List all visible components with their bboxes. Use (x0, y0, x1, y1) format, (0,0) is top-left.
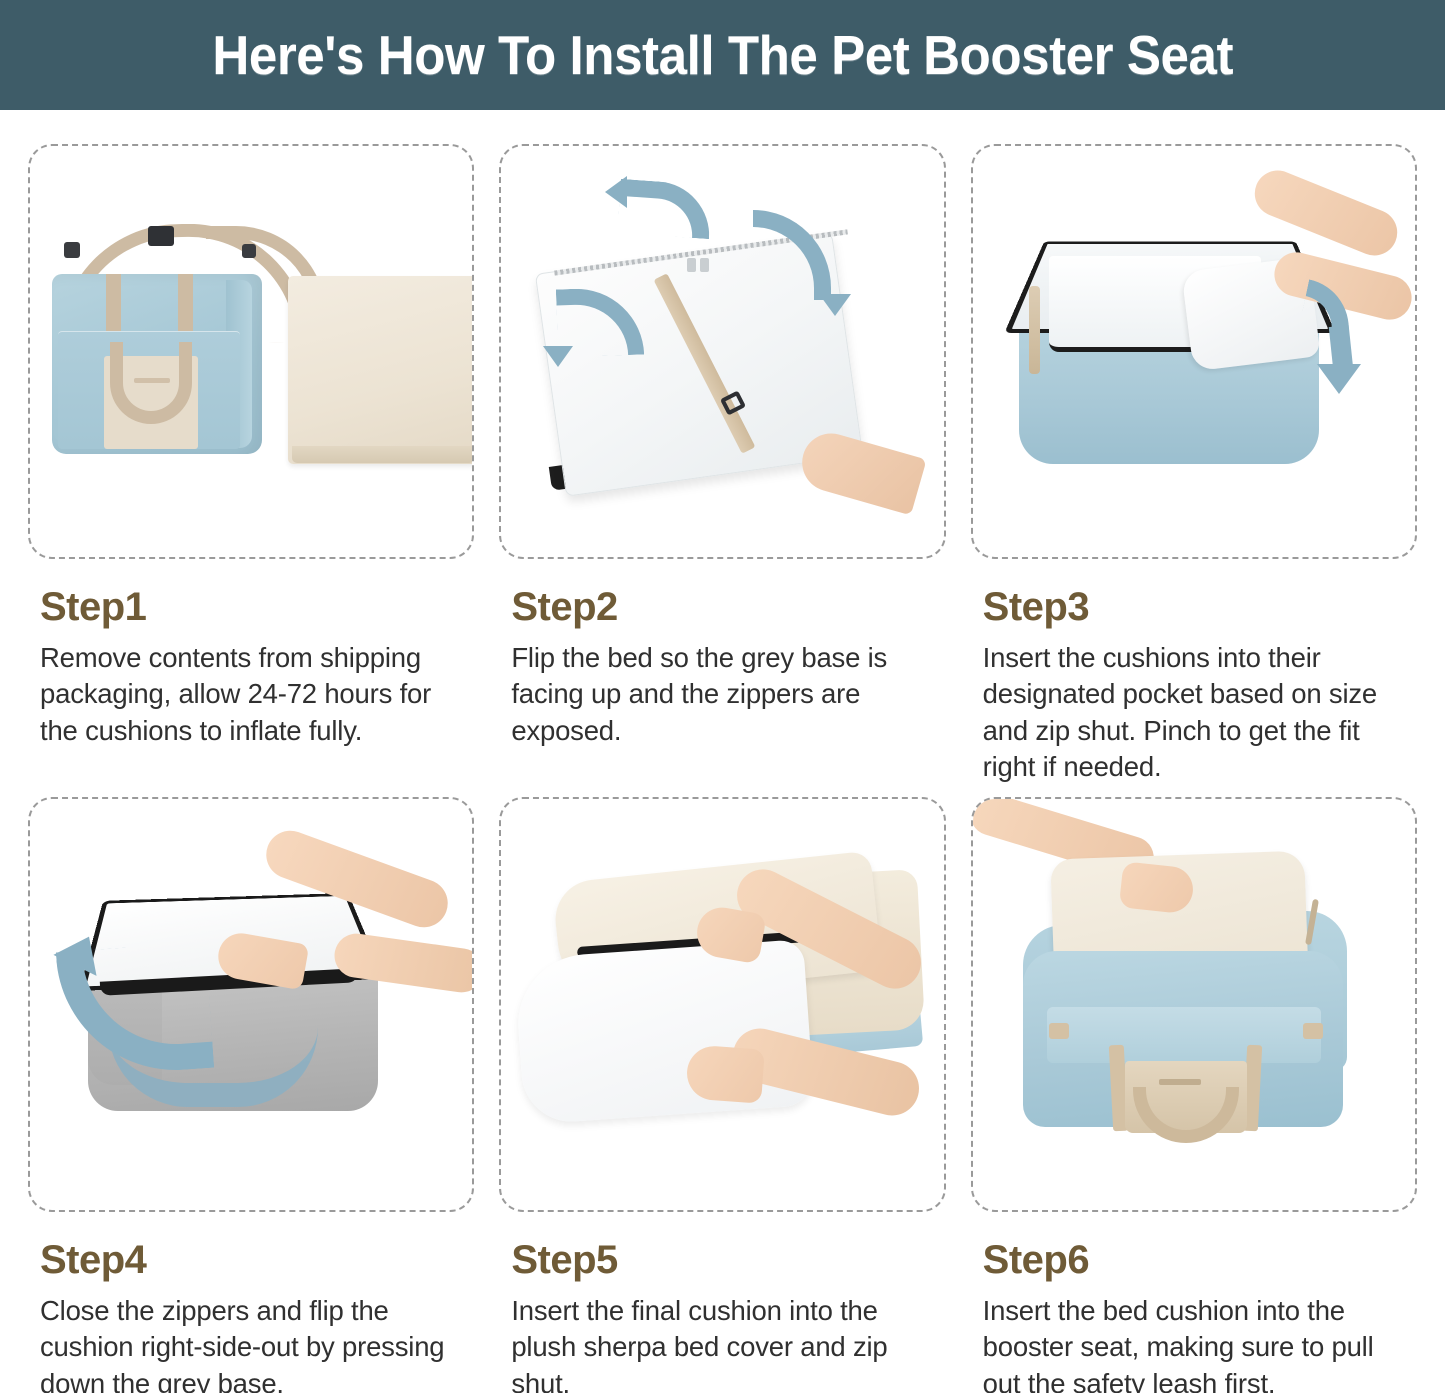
step-cell-2: Step2 Flip the bed so the grey base is f… (499, 144, 945, 785)
page-title: Here's How To Install The Pet Booster Se… (212, 23, 1233, 87)
rotation-arrow-right-icon (753, 210, 831, 300)
rotation-arrow-right-head-icon (819, 294, 851, 316)
step-3-illustration-panel (971, 144, 1417, 559)
carry-handle-loop-icon (1133, 1087, 1239, 1143)
step-3-label: Step3 (983, 585, 1417, 630)
step-2-label: Step2 (511, 585, 945, 630)
brand-logo-mark (1159, 1079, 1201, 1085)
seat-tab-right-icon (1303, 1023, 1323, 1039)
step-2-description: Flip the bed so the grey base is facing … (511, 640, 939, 749)
step-6-label: Step6 (983, 1238, 1417, 1283)
step-1-label: Step1 (40, 585, 474, 630)
step-6-illustration-panel (971, 797, 1417, 1212)
insert-cushion-illustration (973, 146, 1415, 557)
strap-hook-right-icon (700, 258, 709, 272)
tote-vertical-strap-right (178, 274, 193, 334)
strap-hook-left-icon (687, 258, 696, 272)
brand-logo-mark (134, 378, 170, 383)
sherpa-blanket-fold (292, 446, 474, 463)
press-grey-base-illustration (30, 799, 472, 1210)
step-1-description: Remove contents from shipping packaging,… (40, 640, 468, 749)
step-4-description: Close the zippers and flip the cushion r… (40, 1293, 468, 1393)
step-5-description: Insert the final cushion into the plush … (511, 1293, 939, 1393)
tote-bag-and-blanket-illustration (30, 146, 472, 557)
rotation-arrow-top-icon (618, 179, 714, 239)
flip-bed-illustration (501, 146, 943, 557)
step-cell-4: Step4 Close the zippers and flip the cus… (28, 797, 474, 1393)
header-bar: Here's How To Install The Pet Booster Se… (0, 0, 1445, 110)
hand-lifting-base (796, 427, 927, 516)
step-5-label: Step5 (511, 1238, 945, 1283)
step-cell-3: Step3 Insert the cushions into their des… (971, 144, 1417, 785)
step-cell-5: Step5 Insert the final cushion into the … (499, 797, 945, 1393)
strap-buckle-icon (148, 226, 174, 246)
rotation-arrow-top-head-icon (605, 176, 627, 208)
sherpa-blanket (288, 276, 474, 464)
insert-arrow-head-icon (1317, 364, 1361, 394)
strap-clip-right-icon (242, 244, 256, 258)
sherpa-cover-illustration (501, 799, 943, 1210)
step-5-illustration-panel (499, 797, 945, 1212)
step-cell-6: Step6 Insert the bed cushion into the bo… (971, 797, 1417, 1393)
step-3-description: Insert the cushions into their designate… (983, 640, 1411, 785)
tote-vertical-strap-left (106, 274, 121, 334)
step-6-description: Insert the bed cushion into the booster … (983, 1293, 1411, 1393)
step-2-illustration-panel (499, 144, 945, 559)
step-4-illustration-panel (28, 797, 474, 1212)
rotation-arrow-left-head-icon (543, 346, 573, 367)
seat-front-panel (1047, 1007, 1321, 1063)
tote-carry-handle-icon (110, 342, 192, 424)
seat-tab-left-icon (1049, 1023, 1069, 1039)
lower-hand (686, 1045, 766, 1104)
step-1-illustration-panel (28, 144, 474, 559)
step-cell-1: Step1 Remove contents from shipping pack… (28, 144, 474, 785)
finished-booster-seat-illustration (973, 799, 1415, 1210)
zipper-pull-tab-icon (1029, 286, 1040, 374)
steps-grid: Step1 Remove contents from shipping pack… (0, 110, 1445, 1393)
step-4-label: Step4 (40, 1238, 474, 1283)
strap-clip-left-icon (64, 242, 80, 258)
